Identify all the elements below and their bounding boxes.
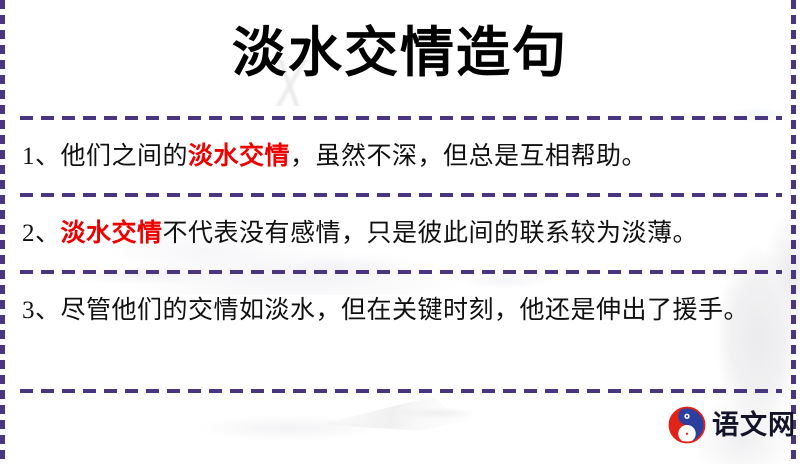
yinyang-fish-emblem-icon bbox=[668, 406, 706, 444]
page-title: 淡水交情造句 bbox=[0, 22, 800, 84]
sentence-number-3: 3、 bbox=[22, 297, 61, 324]
watermark-sailboat bbox=[320, 398, 480, 432]
watermark-boat-water bbox=[120, 395, 540, 455]
keyword-highlight-2: 淡水交情 bbox=[61, 220, 163, 247]
sentence-item-2: 2、淡水交情不代表没有感情，只是彼此间的联系较为淡薄。 bbox=[22, 211, 762, 257]
divider-rule-3 bbox=[20, 270, 782, 274]
divider-rule-4 bbox=[20, 389, 782, 393]
site-logo-text: 语文网 bbox=[712, 412, 796, 439]
sentence-number-1: 1、 bbox=[22, 143, 61, 170]
divider-rule-1 bbox=[20, 116, 782, 120]
watermark-top-right-mist bbox=[710, 95, 790, 135]
site-logo[interactable]: 语文网 bbox=[668, 406, 796, 444]
sentence-text-after-2: 不代表没有感情，只是彼此间的联系较为淡薄。 bbox=[163, 220, 699, 247]
divider-rule-2 bbox=[20, 193, 782, 197]
sentence-item-3: 3、尽管他们的交情如淡水，但在关键时刻，他还是伸出了援手。 bbox=[22, 288, 762, 334]
keyword-highlight-1: 淡水交情 bbox=[188, 143, 290, 170]
sentence-item-1: 1、他们之间的淡水交情，虽然不深，但总是互相帮助。 bbox=[22, 134, 762, 180]
document-page: 淡水交情造句 1、他们之间的淡水交情，虽然不深，但总是互相帮助。 2、淡水交情不… bbox=[0, 0, 800, 464]
sentence-text-before-1: 他们之间的 bbox=[61, 143, 189, 170]
sentence-number-2: 2、 bbox=[22, 220, 61, 247]
sentence-text-after-1: ，虽然不深，但总是互相帮助。 bbox=[290, 143, 647, 170]
sentence-text-before-3: 尽管他们的交情如淡水，但在关键时刻，他还是伸出了援手。 bbox=[61, 297, 750, 324]
